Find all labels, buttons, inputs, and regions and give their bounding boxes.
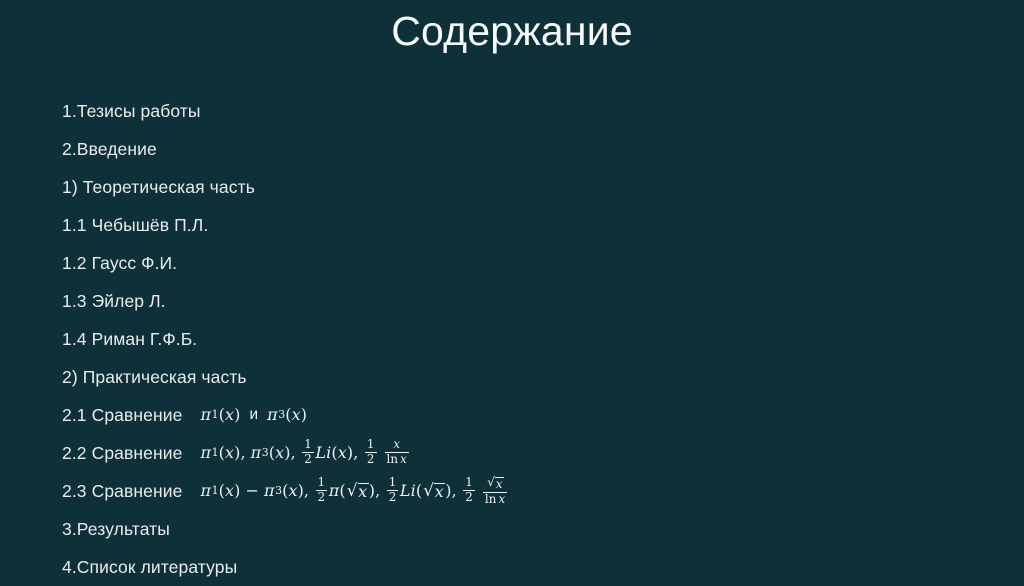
fraction-one-half: 1 2 <box>302 439 314 466</box>
toc-item-label: 2.Введение <box>62 139 157 160</box>
variable-x: x <box>225 445 234 461</box>
minus-sign: − <box>245 483 259 499</box>
pi-symbol: π <box>329 483 340 499</box>
toc-item-riemann[interactable]: 1.4 Риман Г.Ф.Б. <box>62 320 962 358</box>
conjunction-and: и <box>249 407 258 422</box>
toc-item-label: 1) Теоретическая часть <box>62 177 255 198</box>
slide: Содержание 1.Тезисы работы 2.Введение 1)… <box>0 0 1024 574</box>
square-root: √x <box>422 481 445 500</box>
variable-x: x <box>338 445 347 461</box>
radicand: x <box>358 483 369 501</box>
paren-close: ) <box>301 407 307 423</box>
fraction-numerator: 1 <box>463 477 475 490</box>
toc-item-label: 2) Практическая часть <box>62 367 247 388</box>
fraction-denominator: 2 <box>365 452 377 466</box>
comma: , <box>304 483 309 499</box>
square-root: √x <box>486 476 504 491</box>
radical-sign: √ <box>347 482 358 501</box>
variable-x: x <box>292 407 301 423</box>
fraction-sqrtx-over-lnx: √x lnx <box>483 476 507 506</box>
comma: , <box>240 445 245 461</box>
radicand: x <box>434 483 445 501</box>
variable-x: x <box>288 483 297 499</box>
fraction-numerator: x <box>391 439 402 452</box>
toc-item-euler[interactable]: 1.3 Эйлер Л. <box>62 282 962 320</box>
pi-symbol: π <box>200 483 211 499</box>
pi-symbol: π <box>264 483 275 499</box>
fraction-numerator: 1 <box>387 477 399 490</box>
fraction-numerator: 1 <box>316 477 328 490</box>
toc-item-teoreticheskaya-chast[interactable]: 1) Теоретическая часть <box>62 168 962 206</box>
Li-function: Li <box>315 445 331 461</box>
page-title: Содержание <box>0 6 1024 57</box>
pi-symbol: π <box>251 445 262 461</box>
toc-item-label: 1.4 Риман Г.Ф.Б. <box>62 329 197 350</box>
radicand: x <box>495 477 504 490</box>
fraction-denominator: 2 <box>463 490 475 504</box>
variable-x: x <box>499 492 506 506</box>
comma: , <box>375 483 380 499</box>
fraction-denominator: 2 <box>302 452 314 466</box>
comma: , <box>353 445 358 461</box>
fraction-one-half: 1 2 <box>463 477 475 504</box>
formula-2-2: π1(x), π3(x), 1 2 Li(x), 1 2 x lnx <box>200 440 410 467</box>
toc-item-spisok-literatury[interactable]: 4.Список литературы <box>62 548 962 586</box>
toc-item-rezultaty[interactable]: 3.Результаты <box>62 510 962 548</box>
ln-function: ln <box>485 492 497 506</box>
pi-subscript: 3 <box>262 448 269 459</box>
toc-item-label: 1.Тезисы работы <box>62 101 201 122</box>
toc-item-gauss[interactable]: 1.2 Гаусс Ф.И. <box>62 244 962 282</box>
toc-item-sravnenie-2-1[interactable]: 2.1 Сравнение π1(x) и π3(x) <box>62 396 962 434</box>
pi-subscript: 1 <box>212 448 219 459</box>
variable-x: x <box>225 483 234 499</box>
formula-2-1: π1(x) и π3(x) <box>200 407 307 423</box>
fraction-x-over-lnx: x lnx <box>385 439 409 466</box>
pi-subscript: 1 <box>212 410 219 421</box>
fraction-one-half: 1 2 <box>316 477 328 504</box>
toc-item-label: 2.1 Сравнение <box>62 405 182 426</box>
variable-x: x <box>225 407 234 423</box>
pi-symbol: π <box>200 407 211 423</box>
ln-function: ln <box>387 452 399 466</box>
toc-item-sravnenie-2-3[interactable]: 2.3 Сравнение π1(x) − π3(x), 1 2 π(√x), … <box>62 472 962 510</box>
fraction-numerator: 1 <box>365 439 377 452</box>
fraction-denominator: 2 <box>316 490 328 504</box>
paren-close: ) <box>234 407 240 423</box>
toc-item-label: 3.Результаты <box>62 519 170 540</box>
fraction-numerator: 1 <box>302 439 314 452</box>
toc-item-chebyshev[interactable]: 1.1 Чебышёв П.Л. <box>62 206 962 244</box>
toc-item-label: 2.3 Сравнение <box>62 481 182 502</box>
pi-subscript: 1 <box>212 486 219 497</box>
fraction-denominator: lnx <box>385 452 409 466</box>
toc-item-label: 1.3 Эйлер Л. <box>62 291 166 312</box>
toc-item-label: 2.2 Сравнение <box>62 443 182 464</box>
paren-close: ) <box>234 483 240 499</box>
toc-item-prakticheskaya-chast[interactable]: 2) Практическая часть <box>62 358 962 396</box>
fraction-numerator: √x <box>484 476 506 492</box>
radical-sign: √ <box>487 476 495 491</box>
fraction-one-half: 1 2 <box>365 439 377 466</box>
formula-2-3: π1(x) − π3(x), 1 2 π(√x), 1 2 Li(√x), <box>200 476 508 506</box>
comma: , <box>291 445 296 461</box>
Li-function: Li <box>400 483 416 499</box>
toc-item-label: 1.1 Чебышёв П.Л. <box>62 215 208 236</box>
toc-item-label: 4.Список литературы <box>62 557 237 578</box>
pi-subscript: 3 <box>278 410 285 421</box>
pi-symbol: π <box>200 445 211 461</box>
radical-sign: √ <box>423 482 434 501</box>
fraction-denominator: 2 <box>387 490 399 504</box>
fraction-one-half: 1 2 <box>387 477 399 504</box>
toc-item-label: 1.2 Гаусс Ф.И. <box>62 253 177 274</box>
table-of-contents: 1.Тезисы работы 2.Введение 1) Теоретичес… <box>62 92 962 586</box>
toc-item-vvedenie[interactable]: 2.Введение <box>62 130 962 168</box>
toc-item-tezisy[interactable]: 1.Тезисы работы <box>62 92 962 130</box>
variable-x: x <box>275 445 284 461</box>
variable-x: x <box>400 452 407 466</box>
pi-symbol: π <box>267 407 278 423</box>
square-root: √x <box>346 481 369 500</box>
toc-item-sravnenie-2-2[interactable]: 2.2 Сравнение π1(x), π3(x), 1 2 Li(x), 1… <box>62 434 962 472</box>
pi-subscript: 3 <box>275 486 282 497</box>
fraction-denominator: lnx <box>483 492 507 506</box>
comma: , <box>452 483 457 499</box>
